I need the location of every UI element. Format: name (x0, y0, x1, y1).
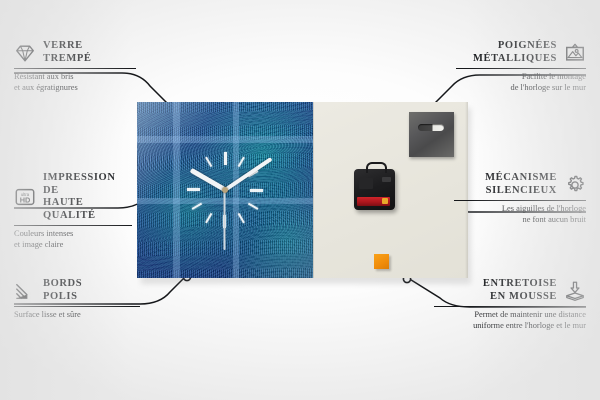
callout-title: BORDS POLIS (43, 278, 82, 303)
polished-edges-icon (14, 280, 36, 302)
glass-sheen (137, 102, 313, 278)
metal-hanger-plate (409, 112, 454, 157)
callout-verre-trempe: VERRE TREMPÉ Résistant aux bris et aux é… (14, 40, 136, 93)
gear-icon (564, 174, 586, 196)
callout-title: IMPRESSION DE HAUTE QUALITÉ (43, 172, 132, 222)
battery-compartment (357, 197, 390, 206)
svg-text:HD: HD (20, 196, 31, 205)
callout-description: Surface lisse et sûre (14, 310, 140, 320)
callout-description: Résistant aux bris et aux égratignures (14, 72, 136, 92)
callout-mecanisme-silencieux: MÉCANISME SILENCIEUX Les aiguilles de l'… (454, 172, 586, 225)
callout-rule (14, 68, 136, 69)
callout-header: ENTRETOISE EN MOUSSE (434, 278, 586, 303)
mechanism-hanging-loop (366, 162, 387, 173)
callout-bords-polis: BORDS POLIS Surface lisse et sûre (14, 278, 140, 321)
clock-mechanism (354, 169, 395, 210)
callout-poignees-metalliques: POIGNÉES MÉTALLIQUES Facilite le montage… (456, 40, 586, 93)
hanger-keyhole-slot (418, 124, 444, 131)
foam-spacer-arrow-icon (564, 280, 586, 302)
foam-spacer (374, 254, 389, 269)
callout-rule (14, 225, 132, 226)
callout-title: MÉCANISME SILENCIEUX (485, 172, 557, 197)
mechanism-body-detail (359, 178, 373, 189)
callout-description: Permet de maintenir une distance uniform… (434, 310, 586, 330)
callout-rule (454, 200, 586, 201)
clock-back-panel (313, 102, 468, 278)
callout-entretoise-en-mousse: ENTRETOISE EN MOUSSE Permet de maintenir… (434, 278, 586, 331)
callout-header: ultra HD IMPRESSION DE HAUTE QUALITÉ (14, 172, 132, 222)
callout-description: Couleurs intenses et image claire (14, 229, 132, 249)
callout-rule (456, 68, 586, 69)
ultra-hd-icon: ultra HD (14, 186, 36, 208)
framed-picture-hook-icon (564, 42, 586, 64)
callout-title: ENTRETOISE EN MOUSSE (483, 278, 557, 303)
callout-rule (434, 306, 586, 307)
clock-face (137, 102, 313, 278)
callout-description: Les aiguilles de l'horloge ne font aucun… (454, 204, 586, 224)
product-image (137, 102, 467, 278)
callout-impression-haute-qualite: ultra HD IMPRESSION DE HAUTE QUALITÉ Cou… (14, 172, 132, 250)
callout-header: BORDS POLIS (14, 278, 140, 303)
callout-description: Facilite le montage de l'horloge sur le … (456, 72, 586, 92)
infographic-canvas: VERRE TREMPÉ Résistant aux bris et aux é… (0, 0, 600, 400)
mechanism-body-detail (382, 177, 391, 182)
diamond-icon (14, 42, 36, 64)
callout-header: POIGNÉES MÉTALLIQUES (456, 40, 586, 65)
callout-title: POIGNÉES MÉTALLIQUES (473, 40, 557, 65)
callout-header: VERRE TREMPÉ (14, 40, 136, 65)
callout-rule (14, 306, 140, 307)
callout-title: VERRE TREMPÉ (43, 40, 92, 65)
callout-header: MÉCANISME SILENCIEUX (454, 172, 586, 197)
